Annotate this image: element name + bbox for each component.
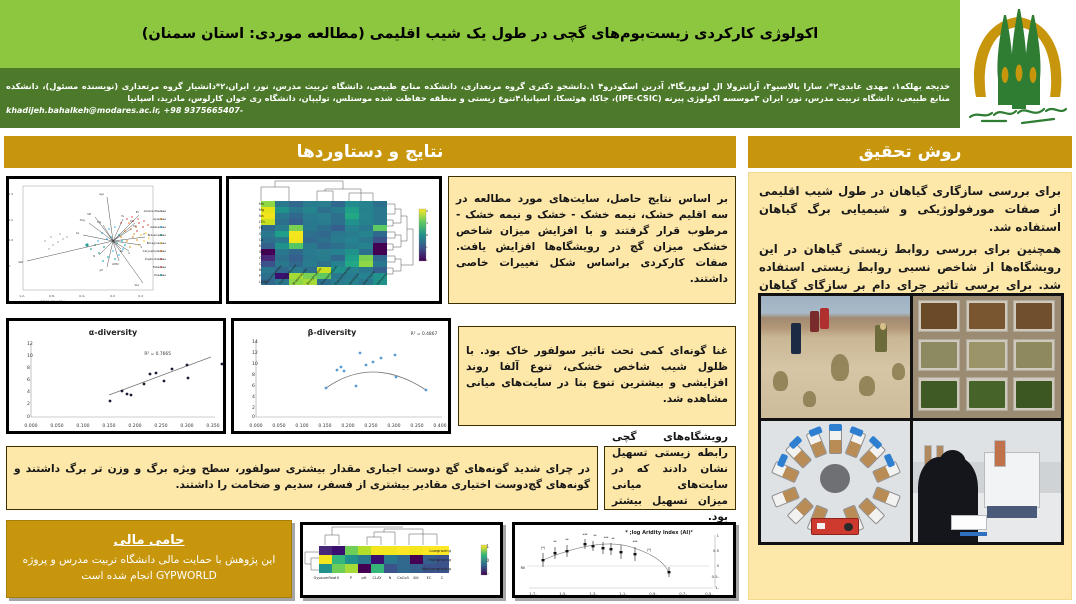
- svg-text:-0.2: -0.2: [9, 264, 11, 268]
- svg-text:Mediumgrazing: Mediumgrazing: [422, 566, 452, 571]
- svg-text:**: **: [565, 538, 569, 542]
- svg-text:LDMC: LDMC: [112, 263, 119, 266]
- photo-rotary-shaker: [761, 421, 910, 543]
- method-panel: برای بررسی سازگاری گیاهان در طول شیب اقل…: [748, 172, 1072, 600]
- svg-text:RDA1 (60.17%): RDA1 (60.17%): [41, 300, 65, 301]
- sponsor-body: این پژوهش با حمایت مالی دانشگاه تربیت مد…: [17, 553, 281, 585]
- poster-root: اکولوژی کارکردی زیست‌بوم‌های گچی در طول …: [0, 0, 1076, 604]
- svg-text:Gyp: Gyp: [99, 193, 104, 196]
- photo-field-survey: [761, 296, 910, 418]
- svg-text:Salt: Salt: [18, 261, 23, 264]
- svg-text:-0.7: -0.7: [679, 591, 687, 595]
- svg-text:Poaceae: Poaceae: [154, 273, 166, 277]
- svg-text:Gypsumfloat: Gypsumfloat: [314, 576, 338, 580]
- svg-text:Mg: Mg: [97, 221, 101, 224]
- svg-text:4: 4: [252, 394, 255, 400]
- title-band: اکولوژی کارکردی زیست‌بوم‌های گچی در طول …: [0, 0, 960, 68]
- svg-text:**: **: [611, 537, 615, 541]
- svg-text:0.300: 0.300: [180, 423, 193, 429]
- method-paragraph-1: برای بررسی سازگاری گیاهان در طول شیب اقل…: [759, 183, 1061, 237]
- beta-diversity-title: β-diversity: [308, 328, 357, 337]
- svg-text:N: N: [389, 576, 392, 580]
- beta-r2-label: R² = 0.4867: [411, 331, 438, 337]
- photo-dried-plant-samples: [913, 296, 1062, 418]
- svg-text:-1.5: -1.5: [559, 591, 567, 595]
- svg-text:Na: Na: [259, 214, 264, 218]
- svg-text:(*): (*): [541, 546, 545, 550]
- svg-text:0.000: 0.000: [24, 423, 37, 429]
- alpha-diversity-title: α-diversity: [89, 328, 138, 337]
- university-logo-area: [960, 0, 1076, 128]
- svg-text:EC: EC: [427, 576, 432, 580]
- svg-text:-1: -1: [715, 585, 719, 590]
- svg-text:0.350: 0.350: [410, 423, 423, 429]
- beta-diversity-svg: β-diversity R² = 0.4867 141210 864 20 0.…: [234, 321, 448, 431]
- svg-text:Amaranthaceae: Amaranthaceae: [144, 209, 167, 213]
- contact-email: khadijeh.bahalkeh@modares.ac.ir, +98 937…: [6, 106, 950, 115]
- method-section-title: روش تحقیق: [859, 142, 962, 162]
- method-photo-grid: [758, 293, 1064, 545]
- svg-text:0.350: 0.350: [206, 423, 219, 429]
- svg-text:0.100: 0.100: [295, 423, 308, 429]
- svg-text:-0.5: -0.5: [712, 574, 720, 579]
- svg-text:(*): (*): [647, 548, 651, 552]
- svg-text:0.4: 0.4: [9, 192, 13, 196]
- sponsor-title: حامی مالی: [114, 533, 185, 548]
- method-section-banner: روش تحقیق: [748, 136, 1072, 168]
- results-text-2: غنا گونه‌ای کمی تحت تاثیر سولفور خاک بود…: [458, 326, 736, 426]
- heatmap-cells: [261, 201, 387, 285]
- svg-text:0: 0: [252, 414, 255, 420]
- svg-text:0.200: 0.200: [128, 423, 141, 429]
- svg-text:Euphorbiaceae: Euphorbiaceae: [145, 257, 166, 261]
- svg-text:***: ***: [633, 540, 638, 544]
- svg-text:6: 6: [252, 383, 255, 389]
- sponsor-box: حامی مالی این پژوهش با حمایت مالی دانشگا…: [6, 520, 292, 598]
- svg-text:LTh: LTh: [259, 220, 265, 224]
- svg-text:-0.9: -0.9: [649, 591, 657, 595]
- svg-text:**: **: [553, 540, 557, 544]
- svg-text:-1.1: -1.1: [619, 591, 627, 595]
- photo-lab-weighing: [913, 421, 1062, 543]
- svg-text:SLA: SLA: [134, 284, 139, 287]
- svg-text:0.0: 0.0: [9, 238, 13, 242]
- svg-text:Mn: Mn: [133, 225, 137, 228]
- svg-text:Mg: Mg: [259, 208, 264, 212]
- svg-text:-1.2: -1.2: [19, 294, 25, 298]
- svg-text:0.000: 0.000: [249, 423, 262, 429]
- svg-text:Boraginaceae: Boraginaceae: [147, 241, 167, 245]
- svg-text:Highgrazing: Highgrazing: [428, 557, 451, 562]
- svg-text:pH: pH: [100, 269, 104, 272]
- svg-text:-1: -1: [425, 245, 428, 249]
- svg-text:N: N: [93, 255, 95, 258]
- svg-text:Mn: Mn: [259, 202, 264, 206]
- svg-text:-1.3: -1.3: [589, 591, 597, 595]
- svg-text:Caryophyllaceae: Caryophyllaceae: [143, 249, 167, 253]
- page-title: اکولوژی کارکردی زیست‌بوم‌های گچی در طول …: [128, 25, 833, 44]
- svg-text:-1.7: -1.7: [529, 591, 537, 595]
- svg-text:0.5: 0.5: [713, 548, 720, 553]
- svg-text:pH: pH: [362, 576, 367, 580]
- svg-text:SLA: SLA: [259, 250, 266, 254]
- svg-text:-2: -2: [425, 258, 428, 262]
- figure-rda-biplot: 0.40.2 0.0-0.2 -1.2-0.8 -0.40.0 0.4 RDA1…: [6, 176, 222, 304]
- results-section-title: نتایج و دستاوردها: [297, 142, 444, 162]
- svg-text:14: 14: [252, 339, 258, 345]
- svg-text:Silt: Silt: [87, 213, 91, 216]
- svg-text:P: P: [259, 274, 261, 278]
- svg-text:S: S: [259, 232, 261, 236]
- svg-text:0: 0: [426, 233, 428, 237]
- authors-band: خدیجه بهلکه۱، مهدی عابدی۲*، سارا پالاسیو…: [0, 68, 960, 128]
- svg-text:Na: Na: [120, 250, 124, 253]
- alpha-diversity-svg: α-diversity 12108 642 0 0.0000.0500.100 …: [9, 321, 223, 431]
- svg-text:CLAY: CLAY: [373, 576, 383, 580]
- svg-text:Fe: Fe: [259, 226, 263, 230]
- svg-text:-0.5: -0.5: [705, 591, 713, 595]
- svg-text:Ca: Ca: [259, 238, 263, 242]
- svg-text:Apiaceae: Apiaceae: [153, 217, 166, 221]
- svg-text:Cu: Cu: [130, 220, 134, 223]
- svg-text:0.150: 0.150: [318, 423, 331, 429]
- svg-text:8: 8: [27, 365, 30, 371]
- svg-text:0.2: 0.2: [9, 218, 13, 222]
- svg-text:0.250: 0.250: [154, 423, 167, 429]
- svg-text:-1: -1: [485, 571, 490, 576]
- svg-text:-0.4: -0.4: [79, 294, 85, 298]
- svg-text:4: 4: [27, 389, 30, 395]
- tarbiat-modares-university-logo: [962, 1, 1074, 127]
- svg-text:Brassicaceae: Brassicaceae: [148, 233, 167, 237]
- svg-text:Silt: Silt: [413, 576, 419, 580]
- trait-family-heatmap-svg: MnMgNa LThFeS CaKSLA CuCN PLDMC Amaranth…: [229, 179, 439, 301]
- svg-text:Clay: Clay: [80, 219, 86, 222]
- svg-text:Lowgrazing: Lowgrazing: [429, 548, 451, 553]
- figure-beta-diversity: β-diversity R² = 0.4867 141210 864 20 0.…: [231, 318, 451, 434]
- svg-text:-0.8: -0.8: [49, 294, 55, 298]
- svg-text:2: 2: [252, 405, 255, 411]
- svg-text:0.050: 0.050: [50, 423, 63, 429]
- results-section-banner: نتایج و دستاوردها: [4, 136, 736, 168]
- figure-aridity-index-response: log Aridity Index (AI)²; * 10.50 -0.5-1 …: [512, 522, 736, 598]
- aridity-ylabel-mark: RII: [521, 566, 525, 570]
- results-text-4: در چرای شدید گونه‌های گچ دوست اجباری مقد…: [6, 446, 598, 510]
- svg-text:10: 10: [27, 353, 33, 359]
- aridity-title: log Aridity Index (AI)²; *: [625, 530, 692, 536]
- aridity-index-svg: log Aridity Index (AI)²; * 10.50 -0.5-1 …: [515, 525, 733, 595]
- figure-alpha-diversity: α-diversity 12108 642 0 0.0000.0500.100 …: [6, 318, 226, 434]
- svg-text:EC: EC: [136, 211, 140, 214]
- svg-text:0.100: 0.100: [76, 423, 89, 429]
- svg-text:0.200: 0.200: [341, 423, 354, 429]
- svg-text:0.050: 0.050: [272, 423, 285, 429]
- svg-text:1: 1: [426, 221, 428, 225]
- svg-text:0.300: 0.300: [387, 423, 400, 429]
- svg-text:Cu: Cu: [259, 256, 264, 260]
- svg-text:0.250: 0.250: [364, 423, 377, 429]
- svg-text:0.4: 0.4: [138, 294, 143, 298]
- rda-biplot-svg: 0.40.2 0.0-0.2 -1.2-0.8 -0.40.0 0.4 RDA1…: [9, 179, 219, 301]
- svg-text:Fabaceae: Fabaceae: [153, 265, 167, 269]
- svg-text:12: 12: [27, 341, 33, 347]
- svg-text:0.0: 0.0: [110, 294, 115, 298]
- figure-grazing-soil-heatmap: Lowgrazing Highgrazing Mediumgrazing Gyp…: [300, 522, 503, 598]
- svg-text:2: 2: [426, 209, 428, 213]
- results-text-3: رویشگاه‌های گچی رابطه زیستی تسهیل نشان د…: [604, 446, 736, 510]
- svg-text:2: 2: [27, 401, 30, 407]
- grazing-soil-heatmap-svg: Lowgrazing Highgrazing Mediumgrazing Gyp…: [303, 525, 500, 595]
- svg-text:***: ***: [604, 536, 609, 540]
- svg-text:6: 6: [27, 377, 30, 383]
- svg-text:10: 10: [252, 361, 258, 367]
- svg-text:8: 8: [252, 372, 255, 378]
- svg-text:Asteraceae: Asteraceae: [150, 225, 166, 229]
- svg-text:CaCo3: CaCo3: [397, 576, 409, 580]
- results-text-1: بر اساس نتایج حاصل، سایت‌های مورد مطالعه…: [448, 176, 736, 304]
- svg-text:Ca: Ca: [76, 232, 80, 235]
- svg-text:12: 12: [252, 350, 258, 356]
- svg-text:**: **: [593, 534, 597, 538]
- authors-affiliations: خدیجه بهلکه۱، مهدی عابدی۲*، سارا پالاسیو…: [6, 81, 950, 105]
- alpha-r2-label: R² = 0.7665: [144, 351, 171, 357]
- svg-text:0.400: 0.400: [433, 423, 446, 429]
- svg-text:0.150: 0.150: [102, 423, 115, 429]
- svg-text:***: ***: [583, 533, 588, 537]
- poster-header: اکولوژی کارکردی زیست‌بوم‌های گچی در طول …: [0, 0, 1076, 128]
- svg-text:0: 0: [27, 414, 30, 420]
- figure-trait-family-heatmap: MnMgNa LThFeS CaKSLA CuCN PLDMC Amaranth…: [226, 176, 442, 304]
